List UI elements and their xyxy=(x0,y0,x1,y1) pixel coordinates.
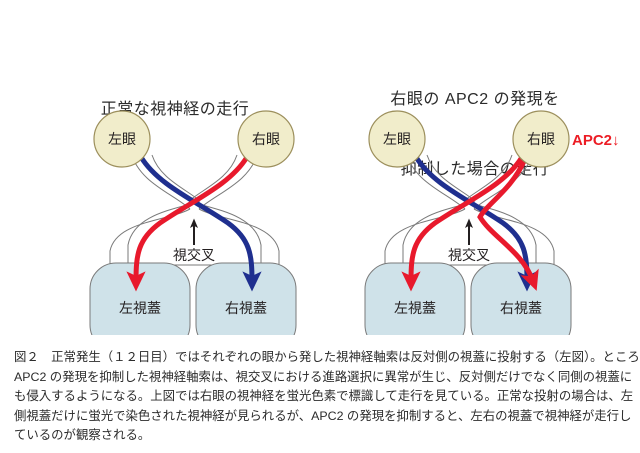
caption-line-5: ているのが観察される。 xyxy=(14,426,630,446)
left-tectum-shape-apc2 xyxy=(365,263,465,335)
caption-line-1: 図２ 正常発生（１２日目）ではそれぞれの眼から発した視神経軸索は反対側の視蓋に投… xyxy=(14,348,630,368)
right-tectum-shape xyxy=(196,263,296,335)
figure-caption: 図２ 正常発生（１２日目）ではそれぞれの眼から発した視神経軸索は反対側の視蓋に投… xyxy=(14,348,630,446)
apc2-knockdown-annotation: APC2↓ xyxy=(572,132,620,149)
left-eye-label: 左眼 xyxy=(108,131,136,147)
right-eye-label-apc2: 右眼 xyxy=(527,131,555,147)
right-tectum-label: 右視蓋 xyxy=(225,300,267,316)
panel-normal: 視交叉 左眼 右眼 左視蓋 右視蓋 xyxy=(90,111,296,335)
visual-pathway-diagram: 視交叉 左眼 右眼 左視蓋 右視蓋 xyxy=(0,105,640,335)
left-tectum-label-apc2: 左視蓋 xyxy=(394,300,436,316)
caption-line-2: APC2 の発現を抑制した視神経軸索は、視交叉における進路選択に異常が生じ、反対… xyxy=(14,368,630,388)
right-eye-label: 右眼 xyxy=(252,131,280,147)
figure-root: 正常な視神経の走行 右眼の APC2 の発現を 抑制した場合の走行 xyxy=(0,0,640,453)
panel-apc2: 視交叉 左眼 右眼 APC2↓ 左視蓋 右視蓋 xyxy=(365,111,620,335)
left-eye-label-apc2: 左眼 xyxy=(383,131,411,147)
caption-line-4: 側視蓋だけに蛍光で染色された視神経が見られるが、APC2 の発現を抑制すると、左… xyxy=(14,407,630,427)
left-tectum-shape xyxy=(90,263,190,335)
right-tectum-shape-apc2 xyxy=(471,263,571,335)
right-tectum-label-apc2: 右視蓋 xyxy=(500,300,542,316)
caption-line-3: も侵入するようになる。上図では右眼の視神経を蛍光色素で標識して走行を見ている。正… xyxy=(14,387,630,407)
left-tectum-label: 左視蓋 xyxy=(119,300,161,316)
chiasm-label-apc2: 視交叉 xyxy=(448,247,490,263)
chiasm-label-normal: 視交叉 xyxy=(173,247,215,263)
